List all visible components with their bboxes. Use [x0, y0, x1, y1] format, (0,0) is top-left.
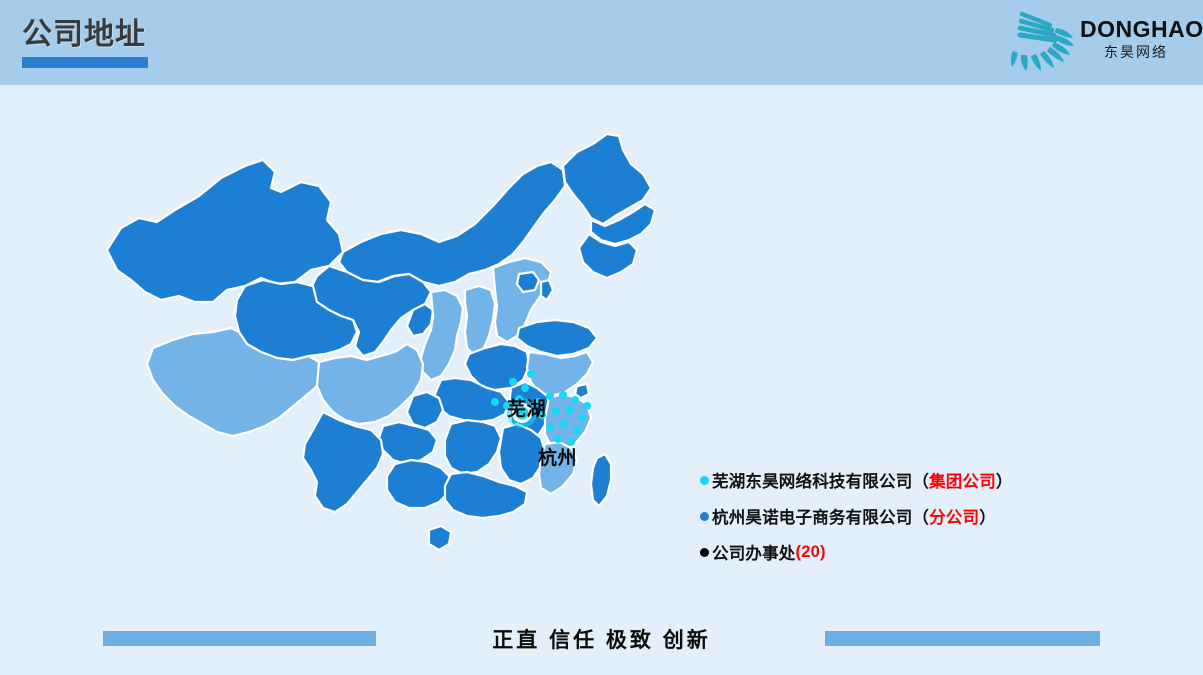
office-dot [571, 396, 579, 404]
province-hainan [429, 526, 451, 550]
office-dot [546, 392, 554, 400]
legend-item-branch-company: 杭州昊诺电子商务有限公司 （ 分公司 ） [700, 498, 1170, 534]
legend-label-group-company: 芜湖东昊网络科技有限公司 [712, 468, 912, 492]
province-hunan [445, 420, 501, 474]
footer-slogan: 正直 信任 极致 创新 [0, 624, 1203, 654]
office-dot [578, 414, 586, 422]
office-dot [560, 420, 568, 428]
province-shanghai [575, 384, 589, 398]
brand-name-cn: 东昊网络 [1080, 43, 1192, 61]
province-xinjiang [107, 160, 343, 302]
office-dot [573, 426, 581, 434]
province-beijing [517, 272, 539, 292]
legend-open-paren: （ [912, 504, 929, 528]
legend-close-paren: ） [979, 504, 996, 528]
office-dot [565, 406, 573, 414]
province-guangxi [387, 460, 451, 508]
page-header: 公司地址 [0, 0, 1203, 85]
city-label-wuhu: 芜湖 [507, 394, 546, 421]
office-dot [554, 435, 562, 443]
city-label-hangzhou: 杭州 [538, 443, 577, 470]
office-dot [559, 391, 567, 399]
brand-logo-text: DONGHAO 东昊网络 [1080, 16, 1192, 61]
legend-dot-black [700, 548, 709, 557]
province-shandong [517, 320, 597, 356]
title-accent-bar [22, 57, 148, 68]
province-chongqing [407, 392, 443, 428]
legend-open-paren: （ [912, 468, 929, 492]
feather-fan-icon [1010, 8, 1080, 72]
office-dot [509, 378, 517, 386]
legend-close-paren: ） [996, 468, 1013, 492]
legend-emphasis-offices-count: 20 [801, 543, 820, 562]
province-taiwan [591, 454, 611, 506]
page-title: 公司地址 [22, 16, 148, 54]
office-dot [546, 423, 554, 431]
legend-dot-cyan [700, 476, 709, 485]
office-dot [527, 370, 535, 378]
legend-emphasis-group-company: 集团公司 [929, 468, 996, 492]
province-yunnan [303, 412, 383, 512]
brand-name-en: DONGHAO [1080, 16, 1192, 42]
legend-item-offices: 公司办事处 ( 20 ) [700, 534, 1170, 570]
china-map: 芜湖 杭州 [95, 130, 695, 620]
page-title-block: 公司地址 [22, 16, 148, 68]
legend-dot-blue [700, 512, 709, 521]
office-dot [491, 398, 499, 406]
province-tianjin [541, 280, 553, 300]
office-dot [583, 402, 591, 410]
legend-label-offices: 公司办事处 [712, 540, 796, 564]
province-guizhou [379, 422, 437, 464]
legend: 芜湖东昊网络科技有限公司 （ 集团公司 ） 杭州昊诺电子商务有限公司 （ 分公司… [700, 462, 1170, 570]
legend-close-paren: ) [820, 543, 826, 562]
legend-emphasis-branch-company: 分公司 [929, 504, 979, 528]
office-dot [521, 384, 529, 392]
province-shaanxi [421, 290, 463, 380]
office-dot [552, 407, 560, 415]
legend-label-branch-company: 杭州昊诺电子商务有限公司 [712, 504, 912, 528]
legend-item-group-company: 芜湖东昊网络科技有限公司 （ 集团公司 ） [700, 462, 1170, 498]
china-map-svg [95, 130, 695, 620]
brand-logo: DONGHAO 东昊网络 [1008, 6, 1193, 74]
